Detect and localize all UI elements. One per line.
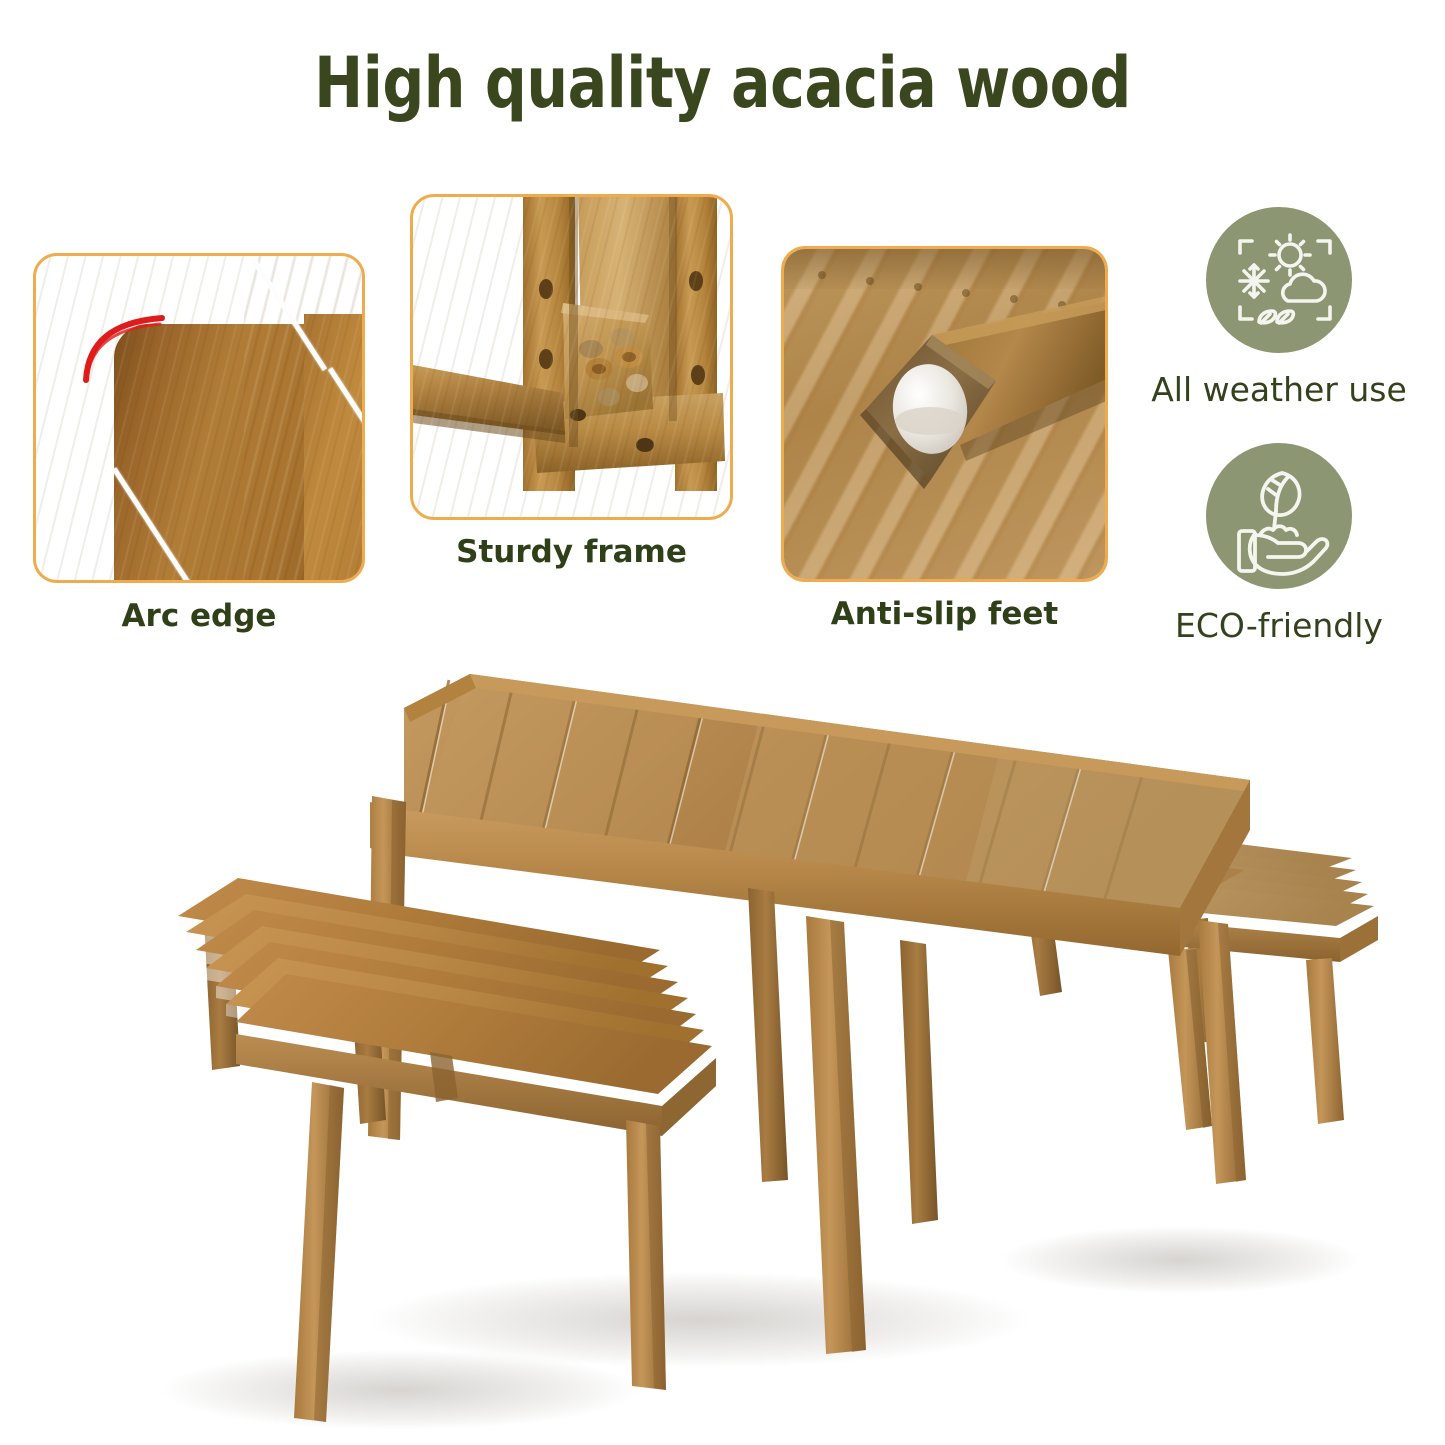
- frame-joint-illustration: [413, 197, 730, 517]
- table-leg-rear-left: [748, 888, 788, 1182]
- dining-set-illustration: [0, 620, 1445, 1445]
- photo-arc-edge: [36, 256, 362, 580]
- badge-label-all-weather: All weather use: [1122, 370, 1436, 409]
- table-leg-mid-rear: [900, 940, 938, 1224]
- photo-anti-slip-feet: [784, 249, 1105, 579]
- panel-border-anti-slip-feet: [781, 246, 1108, 582]
- panel-border-sturdy-frame: [410, 194, 733, 520]
- red-arc-annotation-icon: [36, 256, 362, 580]
- weather-sun-snow-cloud-leaf-icon: [1206, 207, 1352, 353]
- leg-foot-illustration: [784, 249, 1105, 579]
- panel-border-arc-edge: [33, 253, 365, 583]
- photo-sturdy-frame: [413, 197, 730, 517]
- page-title: High quality acacia wood: [51, 42, 1395, 124]
- panel-caption-sturdy-frame: Sturdy frame: [380, 534, 763, 570]
- infographic-canvas: High quality acacia wood: [0, 0, 1445, 1445]
- feature-panel-sturdy-frame: Sturdy frame: [410, 194, 733, 520]
- feature-panel-arc-edge: Arc edge: [33, 253, 365, 583]
- hand-holding-leaf-icon: [1206, 443, 1352, 589]
- hero-product-image: [0, 620, 1445, 1445]
- feature-panel-anti-slip-feet: Anti-slip feet: [781, 246, 1108, 582]
